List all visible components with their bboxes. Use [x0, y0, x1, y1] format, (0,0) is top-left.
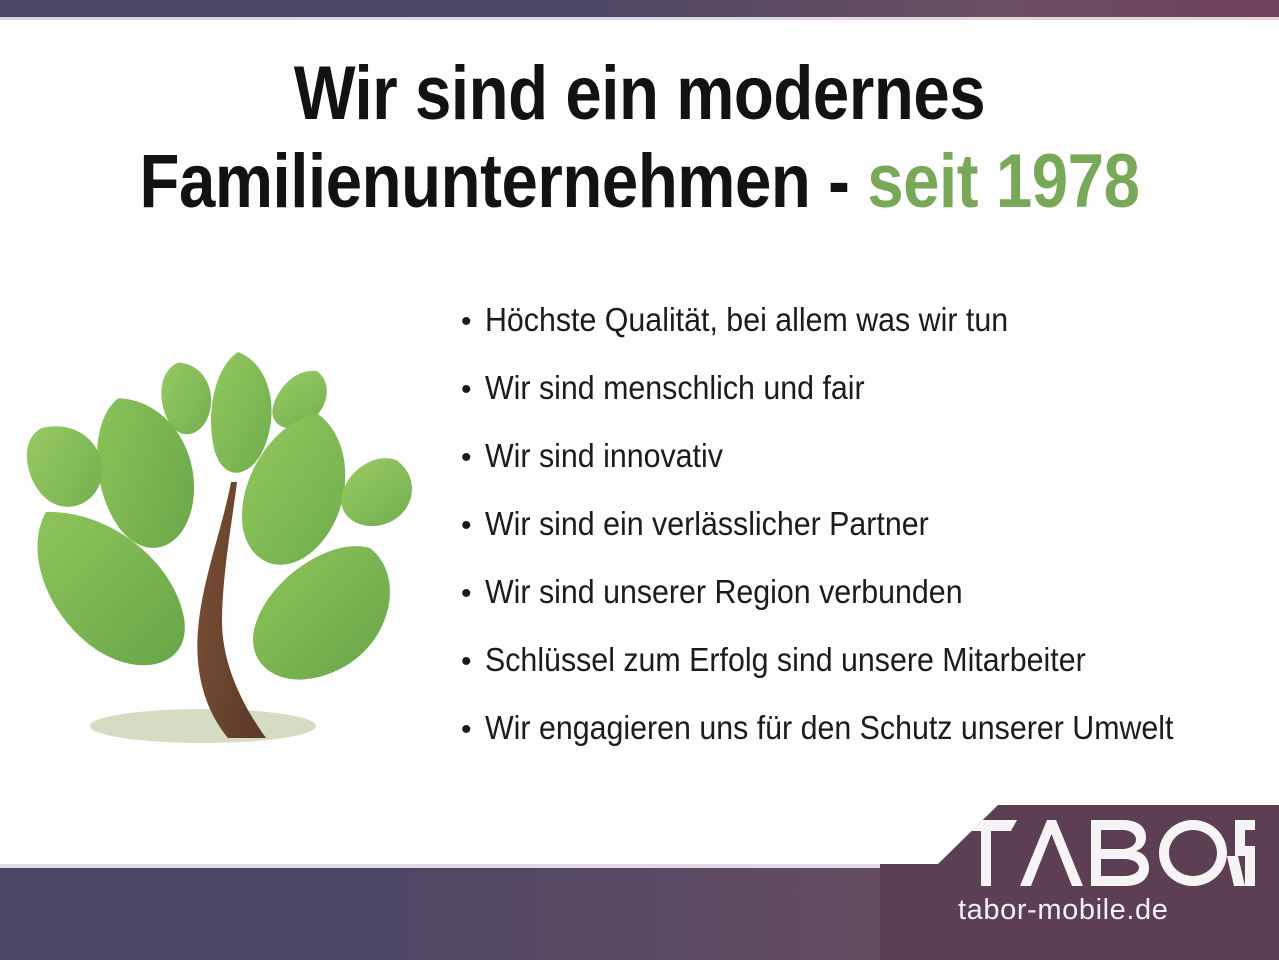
- leaf-lower-right: [253, 546, 390, 680]
- list-item: • Schlüssel zum Erfolg sind unsere Mitar…: [455, 640, 1265, 708]
- title-line-2: Familienunternehmen - seit 1978: [90, 138, 1190, 226]
- list-item-label: Wir sind menschlich und fair: [485, 368, 865, 408]
- leaf-far-right-small: [341, 458, 412, 526]
- bullet-dot-icon: •: [455, 443, 485, 473]
- list-item-label: Schlüssel zum Erfolg sind unsere Mitarbe…: [485, 640, 1086, 680]
- list-item: • Höchste Qualität, bei allem was wir tu…: [455, 300, 1265, 368]
- brand-logo-inner: tabor-mobile.de: [880, 802, 1279, 960]
- list-item: • Wir engagieren uns für den Schutz unse…: [455, 708, 1265, 776]
- bullet-list: • Höchste Qualität, bei allem was wir tu…: [455, 300, 1265, 776]
- list-item-label: Wir sind ein verlässlicher Partner: [485, 504, 929, 544]
- title-line-1: Wir sind ein modernes: [90, 50, 1190, 138]
- leaf-far-left-small: [18, 414, 112, 517]
- brand-url-label: tabor-mobile.de: [958, 894, 1258, 927]
- bullet-dot-icon: •: [455, 715, 485, 745]
- title-line-2-main: Familienunternehmen -: [139, 139, 867, 224]
- list-item: • Wir sind ein verlässlicher Partner: [455, 504, 1265, 572]
- top-accent-hairline: [0, 17, 1279, 20]
- bullet-dot-icon: •: [455, 511, 485, 541]
- slide-canvas: Wir sind ein modernes Familienunternehme…: [0, 0, 1279, 960]
- tabor-wordmark-icon: [955, 820, 1255, 886]
- tree-shadow: [90, 709, 316, 743]
- list-item-label: Höchste Qualität, bei allem was wir tun: [485, 300, 1008, 340]
- bullet-dot-icon: •: [455, 647, 485, 677]
- bullet-dot-icon: •: [455, 579, 485, 609]
- title-accent-year: seit 1978: [867, 139, 1139, 224]
- bullet-dot-icon: •: [455, 375, 485, 405]
- tree-illustration: [18, 330, 438, 760]
- list-item: • Wir sind innovativ: [455, 436, 1265, 504]
- brand-logo-panel: tabor-mobile.de: [880, 802, 1279, 960]
- slide-title: Wir sind ein modernes Familienunternehme…: [0, 50, 1279, 226]
- list-item: • Wir sind unserer Region verbunden: [455, 572, 1265, 640]
- list-item: • Wir sind menschlich und fair: [455, 368, 1265, 436]
- list-item-label: Wir engagieren uns für den Schutz unsere…: [485, 708, 1173, 748]
- top-accent-bar: [0, 0, 1279, 17]
- list-item-label: Wir sind innovativ: [485, 436, 723, 476]
- list-item-label: Wir sind unserer Region verbunden: [485, 572, 963, 612]
- bullet-dot-icon: •: [455, 307, 485, 337]
